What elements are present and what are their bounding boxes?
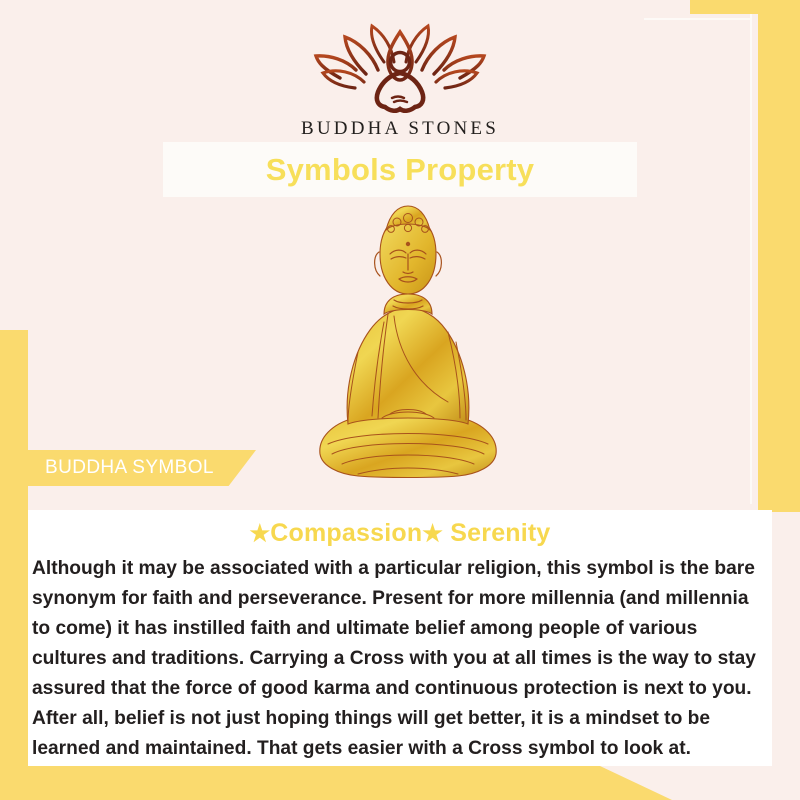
star-icon-left: ★ [249, 520, 270, 546]
buddha-statue-image [298, 202, 518, 494]
section-subtitle: ★Compassion★ Serenity [28, 519, 772, 548]
buddha-symbol-tag: BUDDHA SYMBOL [28, 450, 256, 486]
star-icon-right: ★ [422, 520, 443, 546]
content-card: ★Compassion★ Serenity Although it may be… [28, 510, 772, 766]
decor-inner-horizontal-line [644, 18, 752, 20]
poster-canvas: BUDDHA STONES Symbols Property [0, 0, 800, 800]
buddha-symbol-tag-label: BUDDHA SYMBOL [28, 457, 214, 479]
subtitle-word-serenity: Serenity [450, 519, 550, 547]
subtitle-word-compassion: Compassion [270, 519, 422, 547]
decor-left-strip [0, 330, 28, 770]
brand-logo: BUDDHA STONES [0, 22, 800, 140]
section-body-text: Although it may be associated with a par… [32, 554, 768, 764]
title-banner: Symbols Property [163, 142, 637, 197]
lotus-meditation-figure-icon [312, 22, 488, 114]
brand-name: BUDDHA STONES [0, 118, 800, 140]
page-title: Symbols Property [266, 152, 535, 188]
